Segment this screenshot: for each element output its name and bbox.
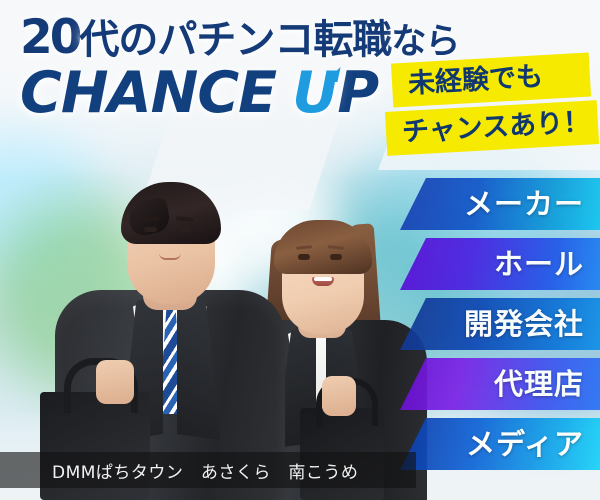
people-photo	[0, 160, 420, 500]
chance-word: CHANCE	[20, 60, 276, 126]
category-label-media: メディア	[466, 430, 584, 459]
up-letter-u: U	[292, 65, 337, 122]
woman-eye-right	[330, 254, 342, 260]
woman-hand	[322, 376, 356, 416]
man-eye-left	[144, 227, 157, 232]
category-label-hall: ホール	[494, 250, 584, 279]
badge-no-experience: 未経験でも	[391, 53, 591, 108]
category-list: メーカー ホール 開発会社 代理店 メディア	[400, 178, 600, 478]
man-mouth	[159, 253, 181, 260]
category-label-maker: メーカー	[464, 190, 584, 219]
man-hand	[96, 360, 134, 404]
headline-line-1: 20代のパチンコ転職なら	[20, 14, 450, 61]
man-hair	[121, 182, 221, 244]
headline-age-number: 20	[20, 10, 79, 65]
up-letter-p: P	[337, 60, 378, 126]
woman-eye-left	[298, 254, 310, 260]
category-button-maker[interactable]: メーカー	[400, 178, 600, 230]
category-button-agency[interactable]: 代理店	[400, 358, 600, 410]
category-label-agency: 代理店	[494, 370, 584, 399]
credit-text: DMMぱちタウン あさくら 南こうめ	[0, 458, 358, 483]
category-button-development-company[interactable]: 開発会社	[400, 298, 600, 350]
headline-line-1-tail: なら	[391, 22, 459, 62]
badge-chance-available: チャンスあり！	[385, 100, 599, 156]
man-eye-right	[178, 227, 191, 232]
highlight-badges: 未経験でも チャンスあり！	[392, 58, 598, 150]
recruitment-banner-ad[interactable]: 20代のパチンコ転職なら CHANCEUP 未経験でも チャンスあり！ メーカー…	[0, 0, 600, 500]
category-button-media[interactable]: メディア	[400, 418, 600, 470]
headline: 20代のパチンコ転職なら CHANCEUP	[20, 14, 450, 122]
credit-bar: DMMぱちタウン あさくら 南こうめ	[0, 452, 416, 488]
category-button-hall[interactable]: ホール	[400, 238, 600, 290]
woman-mouth	[312, 277, 334, 286]
category-label-development-company: 開発会社	[464, 310, 584, 339]
headline-line-1-main: 代のパチンコ転職	[79, 17, 391, 63]
